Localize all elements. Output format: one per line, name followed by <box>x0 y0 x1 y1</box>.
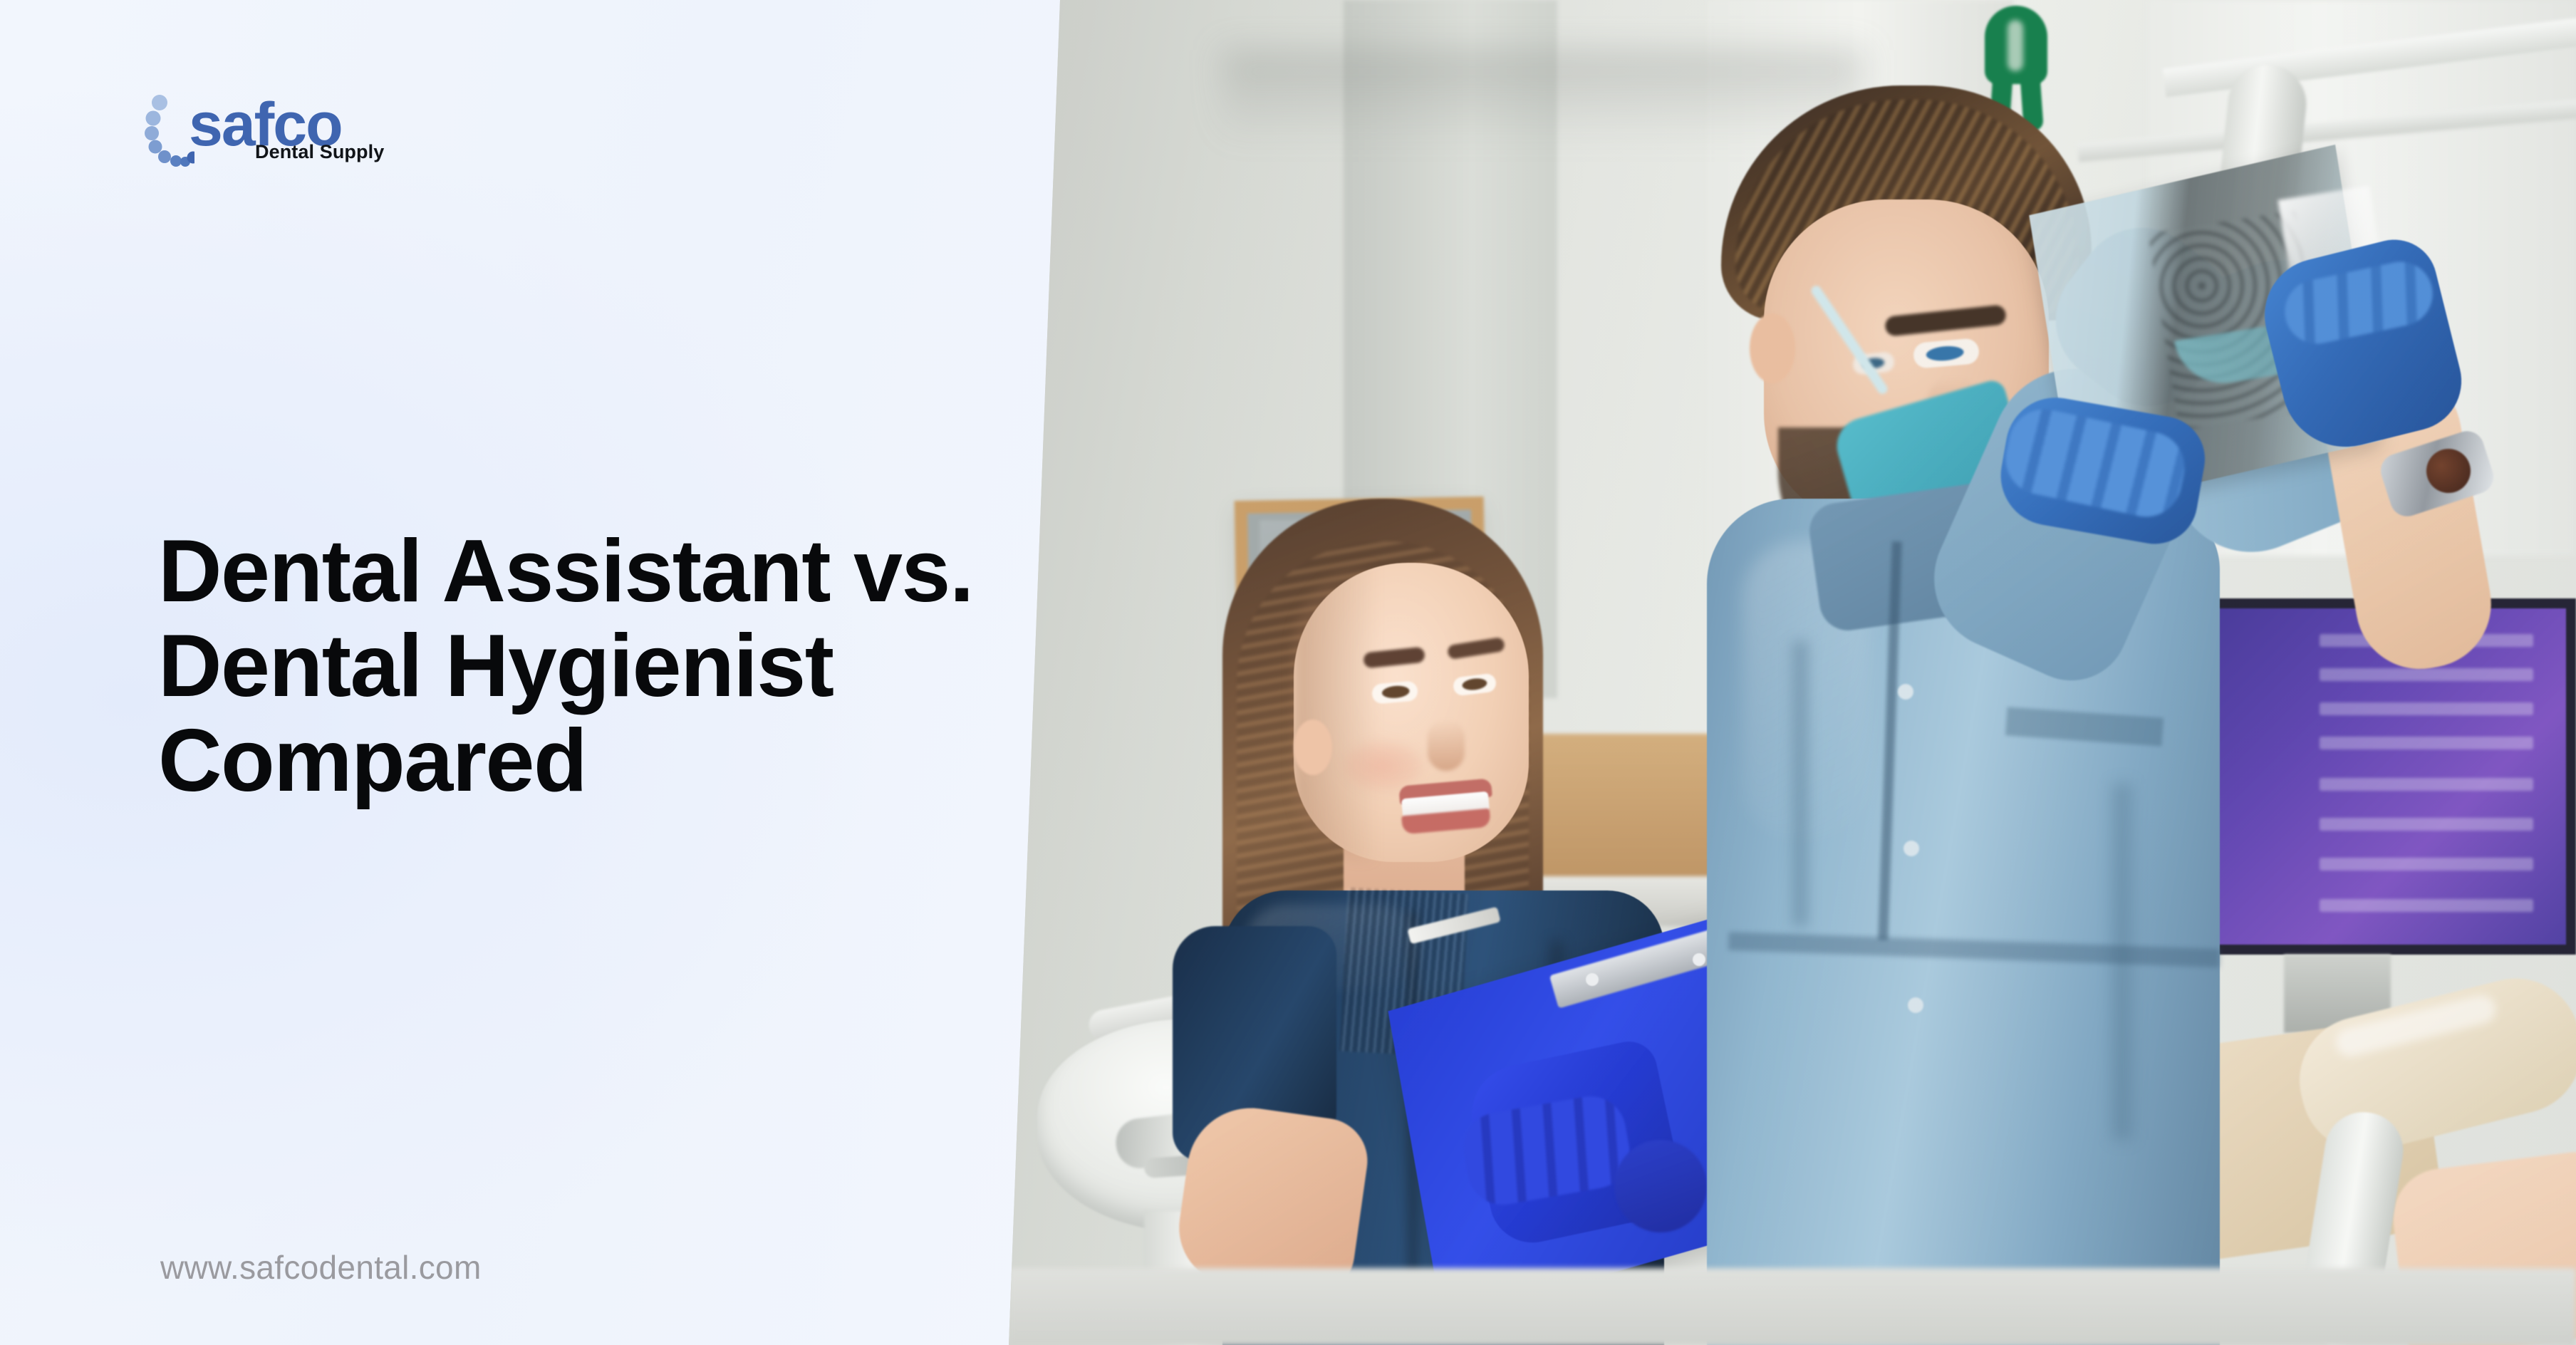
assistant-glove-wrist <box>1614 1140 1707 1232</box>
assistant-cheek-blush <box>1344 741 1422 791</box>
safco-tagline: Dental Supply <box>255 141 384 163</box>
headline-line-1: Dental Assistant vs. <box>158 524 973 619</box>
content-panel: safco Dental Supply Dental Assistant vs.… <box>0 0 1211 1345</box>
hero-photo <box>1009 0 2576 1345</box>
monitor-row <box>2320 899 2533 912</box>
safco-dot-arc-icon <box>145 94 194 170</box>
website-url[interactable]: www.safcodental.com <box>160 1248 482 1287</box>
dentist-scrub-button <box>1908 997 1923 1013</box>
safco-logo[interactable]: safco Dental Supply <box>145 94 380 171</box>
headline-line-2: Dental Hygienist <box>158 619 973 714</box>
monitor-screen-rows <box>2320 627 2562 933</box>
monitor-row <box>2320 818 2533 831</box>
floor <box>1009 1268 2576 1345</box>
assistant-nose <box>1428 720 1465 771</box>
dentist-scrub-button <box>1898 684 1913 700</box>
monitor-row <box>2320 668 2533 681</box>
dentist-scrub-fold <box>2113 784 2131 1140</box>
monitor-row <box>2320 858 2533 871</box>
wall-shadow <box>1222 50 1864 142</box>
marketing-banner: safco Dental Supply Dental Assistant vs.… <box>0 0 2576 1345</box>
page-title: Dental Assistant vs. Dental Hygienist Co… <box>158 524 973 809</box>
dentist-ear <box>1750 313 1795 383</box>
tooth-highlight <box>2008 20 2023 71</box>
monitor-row <box>2320 778 2533 791</box>
dentist-scrub-fold <box>1792 641 1808 926</box>
clipboard-rivet <box>1586 973 1599 986</box>
monitor-row <box>2320 737 2533 749</box>
assistant-face-shadow <box>1294 563 1379 862</box>
dentist-scrub-button <box>1904 841 1919 856</box>
clipboard-rivet <box>1693 953 1705 966</box>
assistant-ear <box>1294 720 1332 775</box>
monitor-row <box>2320 702 2533 715</box>
headline-line-3: Compared <box>158 714 973 809</box>
